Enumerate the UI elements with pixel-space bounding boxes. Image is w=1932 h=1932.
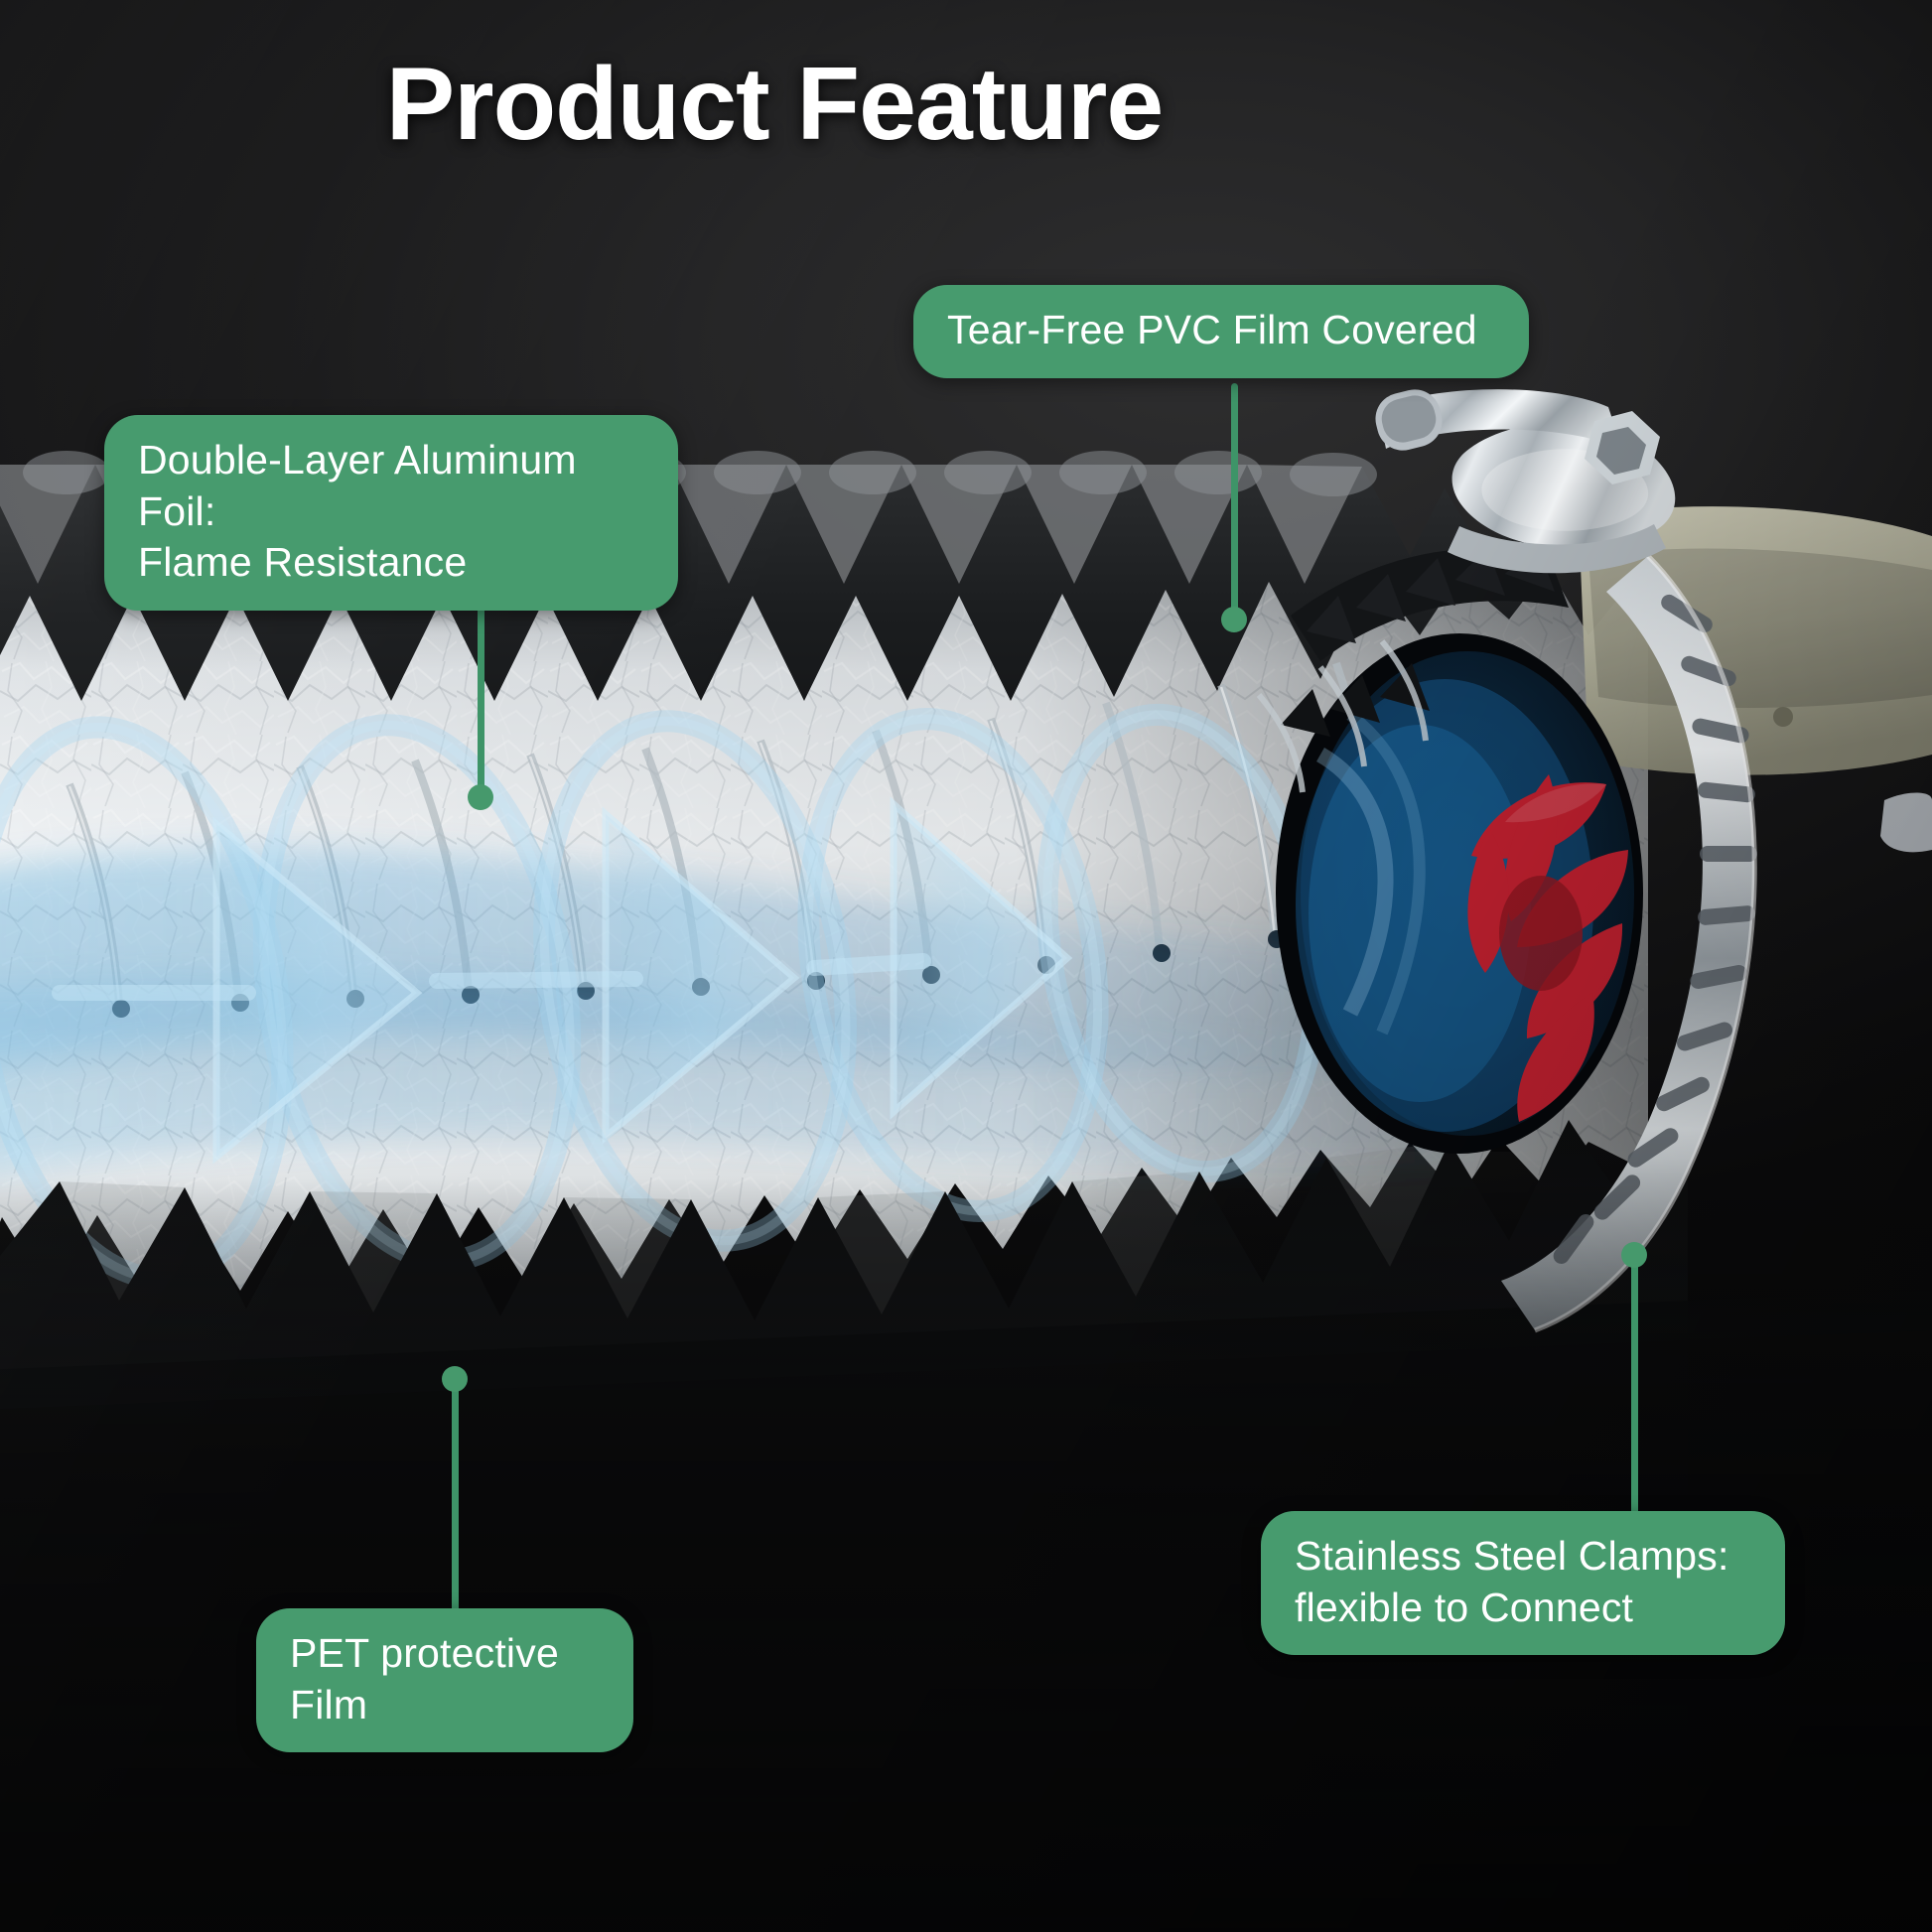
product-feature-infographic: Product Feature Tear-Free PVC Film Cover…: [0, 0, 1932, 1932]
callout-stainless-steel-clamps[interactable]: Stainless Steel Clamps: flexible to Conn…: [1261, 1511, 1785, 1655]
leader-dot-stainless-steel-clamps: [1621, 1242, 1647, 1268]
leader-dot-pet-protective-film: [442, 1366, 468, 1392]
leader-dot-tear-free-pvc-film: [1221, 607, 1247, 632]
callout-tear-free-pvc-film[interactable]: Tear-Free PVC Film Covered: [913, 285, 1529, 378]
callout-pet-protective-film[interactable]: PET protective Film: [256, 1608, 633, 1752]
callout-double-layer-aluminum-foil[interactable]: Double-Layer Aluminum Foil: Flame Resist…: [104, 415, 678, 611]
leader-dot-double-layer-aluminum-foil: [468, 784, 493, 810]
leader-line-tear-free-pvc-film: [1231, 383, 1238, 621]
leader-line-pet-protective-film: [452, 1386, 459, 1616]
page-title: Product Feature: [0, 48, 1549, 161]
leader-line-stainless-steel-clamps: [1631, 1263, 1638, 1517]
